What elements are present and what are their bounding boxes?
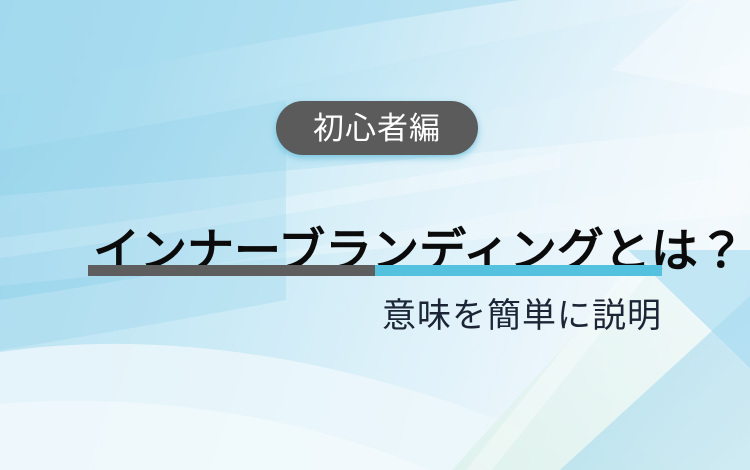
bg-ray-highlight (466, 258, 654, 470)
page-subtitle: 意味を簡単に説明 (88, 294, 662, 338)
bg-band-upper (0, 0, 750, 95)
level-badge-label: 初心者編 (313, 113, 441, 144)
level-badge: 初心者編 (276, 101, 478, 155)
bg-wedge-upper-right (612, 0, 750, 96)
article-title-card: 初心者編 インナーブランディングとは？ 意味を簡単に説明 (0, 0, 750, 470)
divider-bar-right-segment (375, 265, 662, 276)
divider-bar-left-segment (88, 265, 375, 276)
bg-curve-bottom-left-inner (0, 401, 430, 470)
bg-curve-bottom-left (0, 344, 750, 470)
divider-bar (88, 265, 662, 276)
